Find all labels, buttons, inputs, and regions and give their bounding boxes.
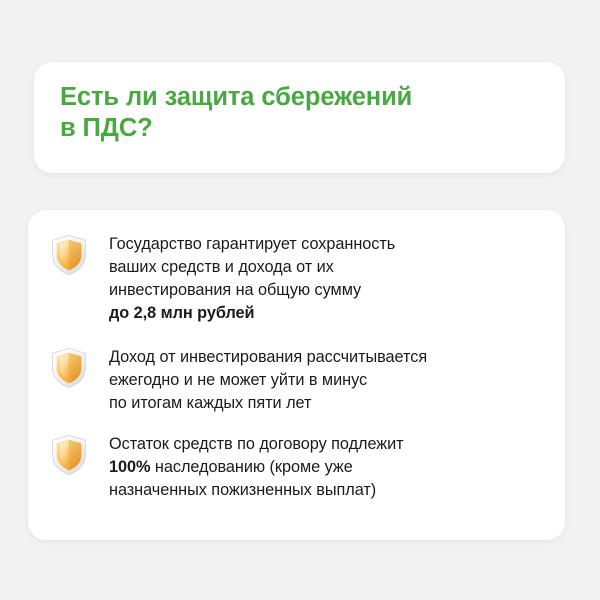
list-item-text: Государство гарантирует сохранность ваши… <box>109 232 550 325</box>
infographic-page: Есть ли защита сбережений в ПДС? <box>0 0 600 600</box>
benefits-card: Государство гарантирует сохранность ваши… <box>28 210 565 540</box>
page-title: Есть ли защита сбережений в ПДС? <box>60 82 540 144</box>
list-item-text-lead: Доход от инвестирования рассчитывается е… <box>109 348 427 412</box>
list-item-text-lead: Остаток средств по договору подлежит <box>109 435 404 453</box>
list-item-text-tail: наследованию (кроме уже назначенных пожи… <box>109 458 376 499</box>
list-item-text-highlight: 100% <box>109 458 150 476</box>
list-item: Остаток средств по договору подлежит 100… <box>50 432 550 502</box>
list-item-text: Остаток средств по договору подлежит 100… <box>109 432 550 502</box>
shield-icon <box>50 234 88 276</box>
list-item-text-lead: Государство гарантирует сохранность ваши… <box>109 235 395 299</box>
list-item-text: Доход от инвестирования рассчитывается е… <box>109 345 550 415</box>
shield-icon <box>50 434 88 476</box>
benefits-list: Государство гарантирует сохранность ваши… <box>28 210 565 540</box>
title-card: Есть ли защита сбережений в ПДС? <box>34 62 565 173</box>
list-item: Государство гарантирует сохранность ваши… <box>50 232 550 325</box>
list-item: Доход от инвестирования рассчитывается е… <box>50 345 550 415</box>
list-item-text-highlight: до 2,8 млн рублей <box>109 304 254 322</box>
shield-icon <box>50 347 88 389</box>
